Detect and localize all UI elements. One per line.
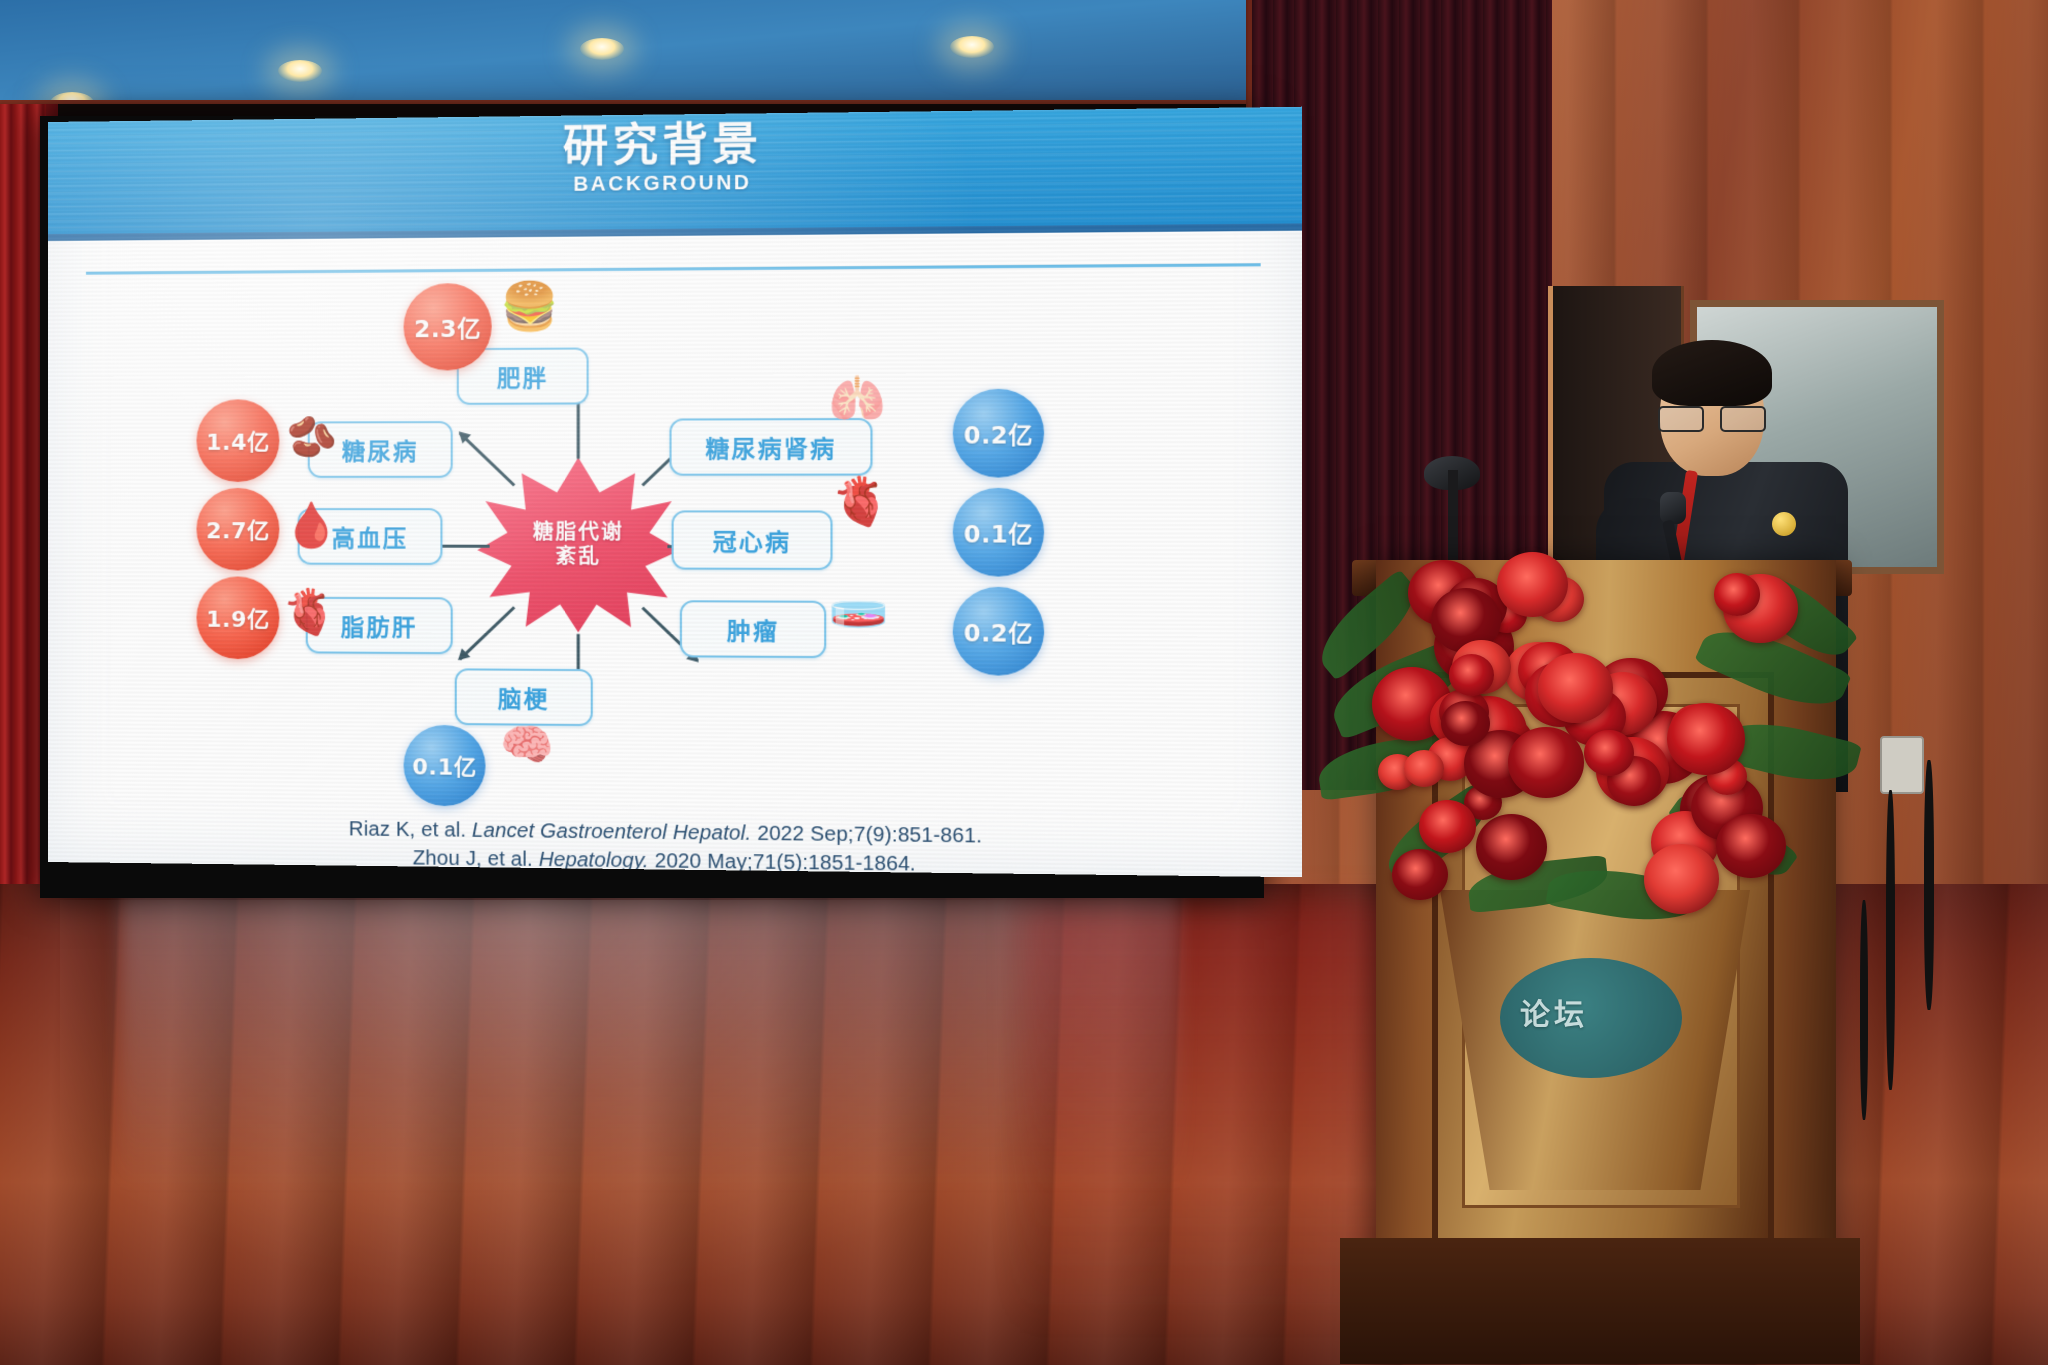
- projection-screen: 研究背景 BACKGROUND 糖脂代谢 紊乱 肥胖糖尿病糖尿病肾病高血压冠心病…: [48, 107, 1302, 878]
- eyeglasses-icon: [1658, 406, 1766, 428]
- slide-title-group: 研究背景 BACKGROUND: [48, 115, 1302, 202]
- concept-diagram: 糖脂代谢 紊乱 肥胖糖尿病糖尿病肾病高血压冠心病脂肪肝肿瘤脑梗2.3亿1.4亿2…: [48, 263, 1302, 796]
- flower-bouquet: [1318, 512, 1818, 942]
- node-label: 肿瘤: [727, 612, 779, 647]
- stat-bubble-fattyliver-count: 1.9亿: [196, 576, 279, 659]
- stat-bubble-diabetes-count: 1.4亿: [196, 399, 279, 482]
- podium-base: [1340, 1238, 1860, 1364]
- diagram-node-tumor: 肿瘤: [680, 600, 826, 658]
- bouquet-flower: [1584, 730, 1634, 776]
- stat-bubble-nephropathy-count: 0.2亿: [953, 389, 1044, 478]
- power-cable: [1924, 760, 1934, 1010]
- bouquet-flower: [1419, 800, 1476, 852]
- conference-hall-photo: 研究背景 BACKGROUND 糖脂代谢 紊乱 肥胖糖尿病糖尿病肾病高血压冠心病…: [0, 0, 2048, 1365]
- stat-bubble-value: 0.1亿: [412, 749, 477, 782]
- blood-vessel-icon: 🩸: [290, 504, 335, 548]
- stat-bubble-value: 2.3亿: [414, 309, 481, 344]
- power-cable: [1886, 790, 1895, 1090]
- star-line-2: 紊乱: [556, 544, 601, 569]
- bouquet-flower: [1508, 727, 1584, 797]
- flow-arrow: [459, 606, 516, 660]
- vase-logo-text: 论坛: [1520, 990, 1710, 1034]
- bouquet-flower: [1404, 750, 1444, 787]
- node-label: 脑梗: [498, 680, 549, 715]
- stat-bubble-value: 1.4亿: [206, 425, 270, 457]
- node-label: 糖尿病肾病: [705, 429, 836, 464]
- bouquet-flower: [1714, 573, 1761, 616]
- node-label: 脂肪肝: [341, 608, 418, 643]
- bouquet-flower: [1644, 844, 1720, 914]
- bouquet-flower: [1538, 653, 1613, 722]
- ceiling-downlight: [950, 36, 994, 58]
- ceiling-downlight: [580, 38, 624, 60]
- bouquet-flower: [1449, 654, 1495, 696]
- stat-bubble-value: 0.1亿: [963, 515, 1033, 550]
- diagram-node-coronary: 冠心病: [672, 510, 833, 570]
- bouquet-flower: [1476, 814, 1547, 879]
- stat-bubble-tumor-count: 0.2亿: [953, 587, 1044, 676]
- floor-sheen: [60, 900, 1240, 1360]
- bouquet-flower: [1667, 703, 1745, 774]
- brain-icon: 🧠: [506, 723, 549, 766]
- tumor-tissue-icon: 🧫: [835, 578, 883, 625]
- node-label: 高血压: [332, 519, 408, 553]
- wall-outlet-icon: [1880, 736, 1924, 794]
- stat-bubble-value: 2.7亿: [206, 513, 270, 545]
- center-star-node: 糖脂代谢 紊乱: [477, 457, 680, 633]
- node-label: 糖尿病: [342, 432, 419, 466]
- bouquet-flower: [1716, 814, 1785, 878]
- stat-bubble-stroke-count: 0.1亿: [404, 725, 486, 807]
- bouquet-flower: [1497, 552, 1568, 617]
- star-line-1: 糖脂代谢: [533, 520, 624, 545]
- slide-header-band: 研究背景 BACKGROUND: [48, 107, 1302, 234]
- heart-icon: 🫀: [837, 478, 885, 525]
- bouquet-flower: [1392, 849, 1448, 900]
- diagram-node-nephropathy: 糖尿病肾病: [669, 418, 872, 476]
- stat-bubble-value: 1.9亿: [206, 602, 270, 634]
- kidney-icon: 🫁: [835, 377, 881, 422]
- stat-bubble-hypertension-count: 2.7亿: [196, 488, 279, 571]
- stat-bubble-value: 0.2亿: [963, 416, 1033, 451]
- pancreas-icon: 🫘: [292, 417, 333, 457]
- stat-bubble-coronary-count: 0.1亿: [953, 488, 1044, 577]
- bouquet-flower: [1441, 701, 1490, 746]
- flow-arrow: [459, 432, 516, 486]
- ceiling-downlight: [278, 60, 322, 82]
- liver-icon: 🫀: [288, 591, 333, 636]
- node-label: 冠心病: [713, 523, 791, 558]
- obese-person-icon: 🍔: [506, 283, 553, 330]
- power-cable: [1860, 900, 1868, 1120]
- diagram-node-stroke: 脑梗: [455, 668, 593, 726]
- node-label: 肥胖: [497, 359, 548, 394]
- speaker-hair: [1652, 340, 1772, 406]
- stat-bubble-obesity-count: 2.3亿: [404, 283, 492, 371]
- stat-bubble-value: 0.2亿: [963, 614, 1033, 649]
